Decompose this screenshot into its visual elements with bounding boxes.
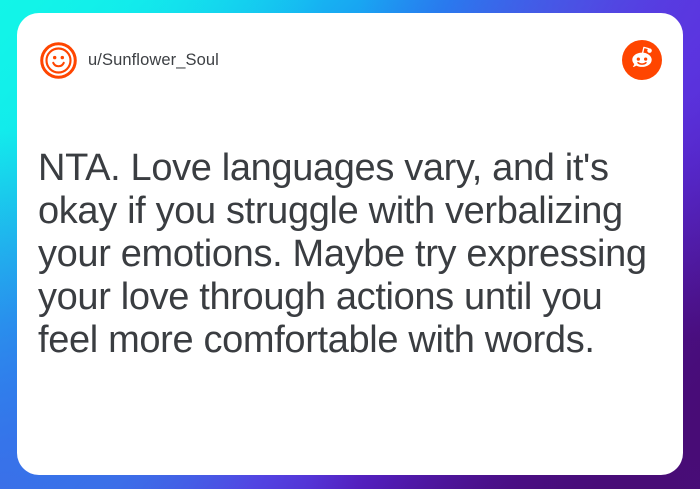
post-header: u/Sunflower_Soul bbox=[17, 13, 683, 105]
post-text: NTA. Love languages vary, and it's okay … bbox=[38, 147, 659, 362]
reddit-post-card: u/Sunflower_Soul bbox=[17, 13, 683, 475]
post-body: NTA. Love languages vary, and it's okay … bbox=[38, 147, 659, 362]
smiley-face-avatar-icon[interactable] bbox=[39, 41, 78, 80]
reddit-snoo-icon[interactable] bbox=[622, 40, 662, 80]
username-label[interactable]: u/Sunflower_Soul bbox=[88, 51, 219, 70]
screenshot-stage: u/Sunflower_Soul bbox=[0, 0, 700, 489]
